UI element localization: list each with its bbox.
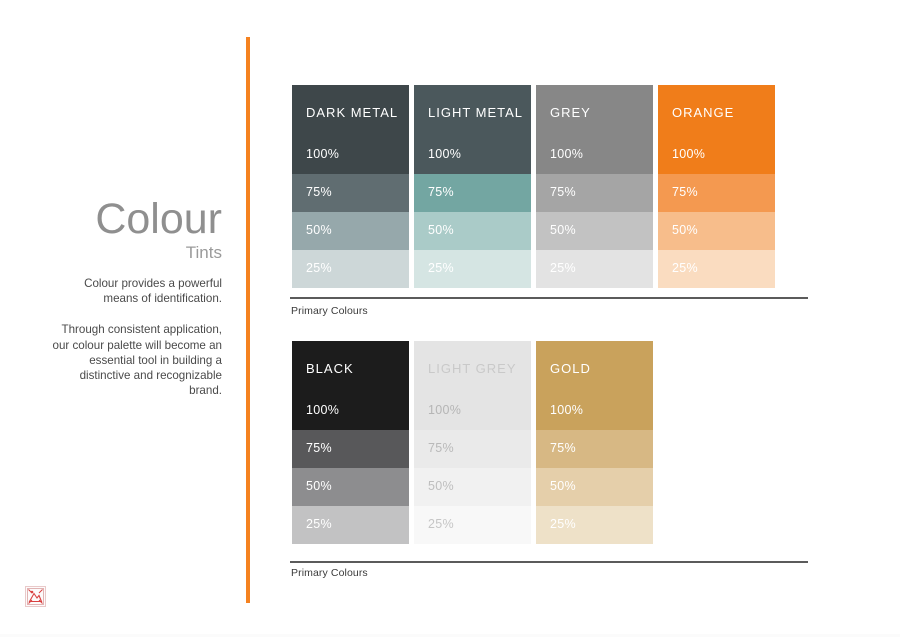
swatch-row: DARK METAL100%75%50%25%LIGHT METAL100%75… <box>292 85 775 288</box>
swatch-tint-label: 50% <box>428 479 454 493</box>
swatch-tint-label: 25% <box>428 517 454 531</box>
swatch-tint-100: LIGHT METAL100% <box>414 85 531 174</box>
swatch-row: BLACK100%75%50%25%LIGHT GREY100%75%50%25… <box>292 341 653 544</box>
left-text-panel: Colour Tints Colour provides a powerful … <box>50 196 222 398</box>
swatch-tint-50: 50% <box>292 212 409 250</box>
swatch-tint-25: 25% <box>536 250 653 288</box>
swatch-tint-100: DARK METAL100% <box>292 85 409 174</box>
swatch-colour-name: ORANGE <box>672 105 734 120</box>
colour-swatch-column: LIGHT METAL100%75%50%25% <box>414 85 531 288</box>
swatch-tint-label: 75% <box>428 185 454 199</box>
swatch-tint-label: 75% <box>550 185 576 199</box>
swatch-tint-label: 100% <box>428 147 461 161</box>
swatch-tint-label: 75% <box>306 185 332 199</box>
swatch-tint-label: 25% <box>306 261 332 275</box>
swatch-tint-75: 75% <box>414 430 531 468</box>
swatch-tint-25: 25% <box>292 506 409 544</box>
swatch-tint-75: 75% <box>536 174 653 212</box>
swatch-tint-label: 75% <box>306 441 332 455</box>
swatch-tint-label: 100% <box>306 147 339 161</box>
group-caption-1: Primary Colours <box>291 305 368 317</box>
swatch-tint-25: 25% <box>414 506 531 544</box>
swatch-tint-label: 75% <box>550 441 576 455</box>
broken-image-glyph <box>26 587 45 606</box>
slide-canvas: Colour Tints Colour provides a powerful … <box>0 0 900 637</box>
swatch-tint-25: 25% <box>292 250 409 288</box>
colour-swatch-column: ORANGE100%75%50%25% <box>658 85 775 288</box>
swatch-tint-label: 25% <box>550 261 576 275</box>
swatch-tint-label: 50% <box>306 223 332 237</box>
swatch-colour-name: GOLD <box>550 361 591 376</box>
swatch-tint-75: 75% <box>414 174 531 212</box>
swatch-tint-25: 25% <box>658 250 775 288</box>
swatch-tint-50: 50% <box>536 468 653 506</box>
broken-image-icon <box>25 586 46 607</box>
swatch-colour-name: LIGHT GREY <box>428 361 517 376</box>
colour-swatch-column: BLACK100%75%50%25% <box>292 341 409 544</box>
swatch-tint-label: 100% <box>428 403 461 417</box>
swatch-tint-label: 75% <box>672 185 698 199</box>
colour-group-primary-1: DARK METAL100%75%50%25%LIGHT METAL100%75… <box>292 85 775 288</box>
swatch-tint-label: 25% <box>428 261 454 275</box>
colour-group-primary-2: BLACK100%75%50%25%LIGHT GREY100%75%50%25… <box>292 341 653 544</box>
swatch-tint-label: 100% <box>306 403 339 417</box>
swatch-tint-label: 25% <box>550 517 576 531</box>
swatch-tint-50: 50% <box>536 212 653 250</box>
swatch-tint-25: 25% <box>536 506 653 544</box>
swatch-colour-name: GREY <box>550 105 591 120</box>
colour-swatch-column: DARK METAL100%75%50%25% <box>292 85 409 288</box>
swatch-tint-label: 50% <box>428 223 454 237</box>
swatch-tint-label: 50% <box>550 479 576 493</box>
swatch-tint-100: BLACK100% <box>292 341 409 430</box>
swatch-tint-25: 25% <box>414 250 531 288</box>
swatch-colour-name: LIGHT METAL <box>428 105 523 120</box>
swatch-tint-100: LIGHT GREY100% <box>414 341 531 430</box>
intro-paragraph-1: Colour provides a powerful means of iden… <box>50 276 222 306</box>
colour-swatch-column: LIGHT GREY100%75%50%25% <box>414 341 531 544</box>
swatch-tint-50: 50% <box>414 212 531 250</box>
intro-paragraph-2: Through consistent application, our colo… <box>50 322 222 398</box>
swatch-tint-label: 100% <box>550 147 583 161</box>
swatch-tint-100: GREY100% <box>536 85 653 174</box>
accent-vertical-rule <box>246 37 250 603</box>
swatch-tint-label: 25% <box>306 517 332 531</box>
swatch-colour-name: DARK METAL <box>306 105 398 120</box>
swatch-tint-label: 50% <box>306 479 332 493</box>
swatch-tint-50: 50% <box>292 468 409 506</box>
page-title: Colour Tints <box>50 196 222 263</box>
swatch-tint-label: 25% <box>672 261 698 275</box>
group-divider-1 <box>290 297 808 299</box>
swatch-tint-100: ORANGE100% <box>658 85 775 174</box>
swatch-tint-50: 50% <box>658 212 775 250</box>
group-caption-2: Primary Colours <box>291 567 368 579</box>
swatch-tint-75: 75% <box>292 430 409 468</box>
swatch-tint-label: 50% <box>672 223 698 237</box>
swatch-tint-100: GOLD100% <box>536 341 653 430</box>
colour-swatch-column: GREY100%75%50%25% <box>536 85 653 288</box>
swatch-tint-75: 75% <box>658 174 775 212</box>
swatch-tint-75: 75% <box>536 430 653 468</box>
swatch-colour-name: BLACK <box>306 361 354 376</box>
swatch-tint-label: 75% <box>428 441 454 455</box>
group-divider-2 <box>290 561 808 563</box>
title-main: Colour <box>50 196 222 242</box>
swatch-tint-75: 75% <box>292 174 409 212</box>
swatch-tint-label: 100% <box>672 147 705 161</box>
swatch-tint-50: 50% <box>414 468 531 506</box>
colour-swatch-column: GOLD100%75%50%25% <box>536 341 653 544</box>
swatch-tint-label: 100% <box>550 403 583 417</box>
title-subtitle: Tints <box>50 243 222 263</box>
swatch-tint-label: 50% <box>550 223 576 237</box>
